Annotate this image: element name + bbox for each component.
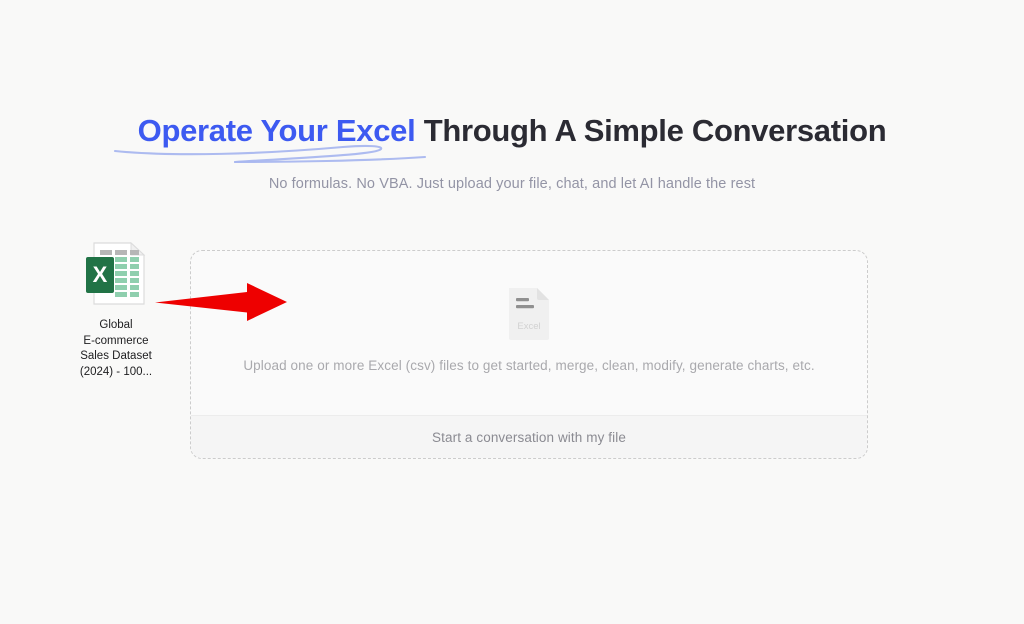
file-upload-dropzone[interactable]: Excel Upload one or more Excel (csv) fil… (190, 250, 868, 459)
dropzone-body[interactable]: Excel Upload one or more Excel (csv) fil… (191, 251, 867, 415)
desktop-file-shortcut[interactable]: X Global E-commerce Sales Dataset (2024)… (70, 238, 162, 380)
start-conversation-button[interactable]: Start a conversation with my file (191, 415, 867, 458)
page-subtitle: No formulas. No VBA. Just upload your fi… (0, 176, 1024, 192)
dropzone-hint-text: Upload one or more Excel (csv) files to … (243, 358, 814, 373)
excel-document-icon: Excel (506, 286, 552, 342)
file-label-line: E-commerce (70, 334, 162, 350)
excel-file-icon-wrapper: X (70, 238, 162, 310)
start-conversation-label: Start a conversation with my file (432, 430, 626, 445)
page-title: Operate Your Excel Through A Simple Conv… (138, 112, 887, 149)
excel-placeholder-label: Excel (517, 321, 540, 332)
hero-section: Operate Your Excel Through A Simple Conv… (0, 112, 1024, 149)
excel-file-icon: X (84, 241, 148, 307)
page-title-rest: Through A Simple Conversation (415, 113, 886, 148)
file-label-line: (2024) - 100... (70, 365, 162, 381)
file-shortcut-label: Global E-commerce Sales Dataset (2024) -… (70, 318, 162, 380)
file-label-line: Sales Dataset (70, 349, 162, 365)
svg-text:X: X (93, 262, 108, 287)
file-label-line: Global (70, 318, 162, 334)
page-title-accent: Operate Your Excel (138, 113, 416, 148)
